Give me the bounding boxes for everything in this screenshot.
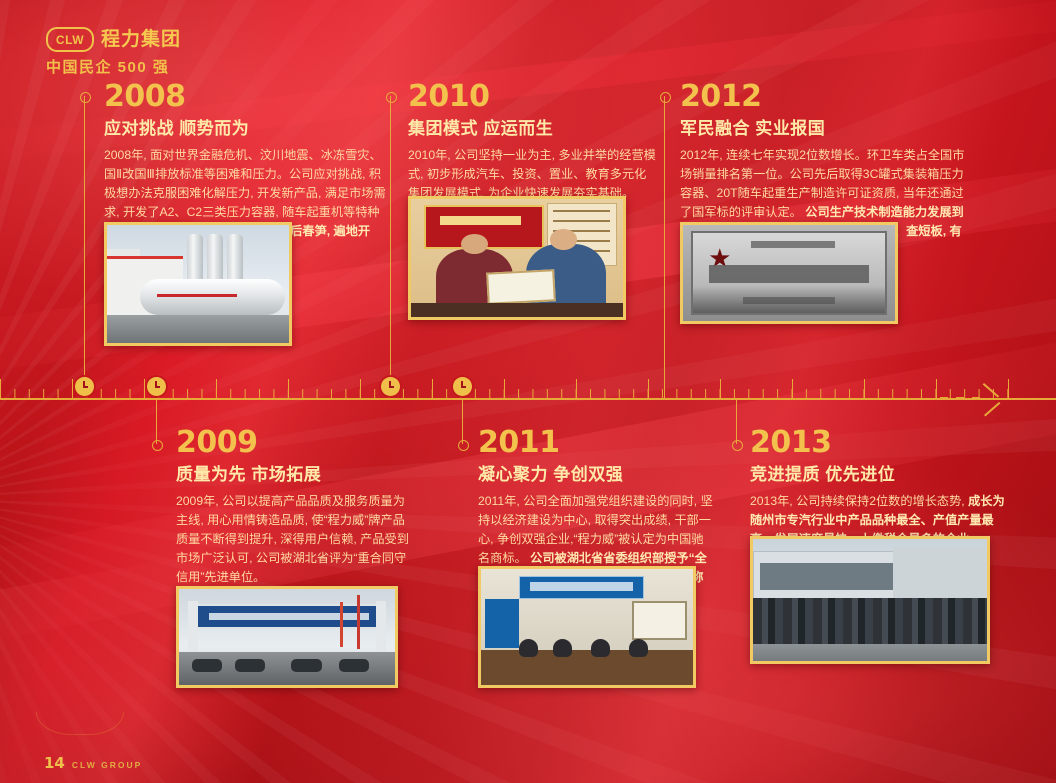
entry-body-text-2009: 2009年, 公司以提高产品品质及服务质量为主线, 用心用情铸造品质, 使“程力… [176, 494, 409, 584]
page-footer: 14 CLW GROUP [44, 756, 142, 771]
page-number: 14 [44, 756, 65, 771]
logo-row: CLW 程力集团 [46, 27, 181, 52]
logo-subtitle: 中国民企 500 强 [46, 60, 181, 75]
stem-2010 [390, 96, 391, 398]
entry-body-2009: 2009年, 公司以提高产品品质及服务质量为主线, 用心用情铸造品质, 使“程力… [176, 492, 416, 587]
node-dot-2012 [660, 92, 671, 103]
entry-body-text-2013: 2013年, 公司持续保持2位数的增长态势, [750, 494, 965, 508]
company-logo: CLW 程力集团 中国民企 500 强 [46, 27, 181, 75]
entry-year-2013: 2013 [750, 428, 1006, 458]
chevron-right-icon [984, 383, 1008, 415]
clock-icon-2009 [147, 377, 166, 396]
entry-headline-2008: 应对挑战 顺势而为 [104, 120, 386, 137]
logo-company-name: 程力集团 [101, 30, 181, 49]
node-dot-2013 [732, 440, 743, 451]
entry-body-2010: 2010年, 公司坚持一业为主, 多业并举的经营模式, 初步形成汽车、投资、置业… [408, 146, 658, 203]
timeline-entry-2010: 2010 集团模式 应运而生 2010年, 公司坚持一业为主, 多业并举的经营模… [408, 82, 658, 203]
entry-photo-2011 [478, 566, 696, 688]
clock-icon-2008 [75, 377, 94, 396]
entry-year-2010: 2010 [408, 82, 658, 112]
timeline-entry-2013: 2013 竞进提质 优先进位 2013年, 公司持续保持2位数的增长态势, 成长… [750, 428, 1006, 549]
footer-brand-label: CLW GROUP [72, 761, 142, 770]
stem-2008 [84, 96, 85, 398]
stem-2012 [664, 96, 665, 398]
entry-photo-2012: ★ [680, 222, 898, 324]
entry-body-text-2010: 2010年, 公司坚持一业为主, 多业并举的经营模式, 初步形成汽车、投资、置业… [408, 148, 656, 200]
stem-2013 [736, 398, 737, 444]
entry-photo-2013 [750, 536, 990, 664]
timeline-entry-2009: 2009 质量为先 市场拓展 2009年, 公司以提高产品品质及服务质量为主线,… [176, 428, 416, 587]
entry-photo-2008 [104, 222, 292, 346]
entry-year-2012: 2012 [680, 82, 970, 112]
clock-icon-2011 [453, 377, 472, 396]
entry-photo-2009 [176, 586, 398, 688]
entry-year-2008: 2008 [104, 82, 386, 112]
logo-mark-text: CLW [56, 34, 84, 46]
node-dot-2009 [152, 440, 163, 451]
timeline-axis [0, 398, 1056, 400]
entry-headline-2013: 竞进提质 优先进位 [750, 466, 1006, 483]
entry-headline-2012: 军民融合 实业报国 [680, 120, 970, 137]
node-dot-2010 [386, 92, 397, 103]
clw-oval-logo-icon: CLW [46, 27, 94, 52]
timeline-dashed-tail [940, 397, 986, 399]
entry-photo-2010 [408, 196, 626, 320]
stem-2011 [462, 398, 463, 444]
entry-year-2011: 2011 [478, 428, 714, 458]
entry-headline-2010: 集团模式 应运而生 [408, 120, 658, 137]
node-dot-2008 [80, 92, 91, 103]
entry-headline-2009: 质量为先 市场拓展 [176, 466, 416, 483]
page-canvas: CLW 程力集团 中国民企 500 强 2008 应对挑战 顺势而为 2008年… [0, 0, 1056, 783]
entry-headline-2011: 凝心聚力 争创双强 [478, 466, 714, 483]
stem-2009 [156, 398, 157, 444]
clock-icon-2010 [381, 377, 400, 396]
node-dot-2011 [458, 440, 469, 451]
entry-year-2009: 2009 [176, 428, 416, 458]
